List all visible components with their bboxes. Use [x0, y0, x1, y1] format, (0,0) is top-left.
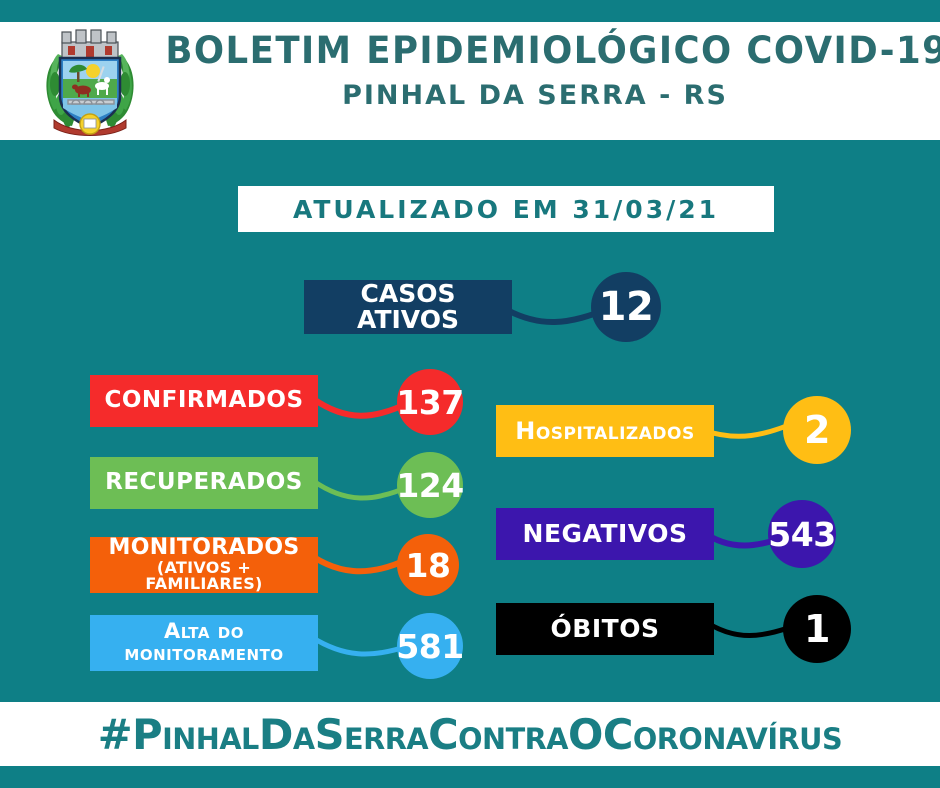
stat-circle-casos-ativos: 12	[591, 272, 661, 342]
stat-value-confirmados: 137	[396, 383, 463, 422]
stat-circle-negativos: 543	[768, 500, 836, 568]
covid-bulletin-poster: BOLETIM EPIDEMIOLÓGICO COVID-19 PINHAL D…	[0, 0, 940, 788]
stat-bar-casos-ativos: CASOS ATIVOS	[304, 280, 512, 334]
footer-divider-top	[0, 688, 940, 702]
stat-value-casos-ativos: 12	[599, 284, 654, 330]
stat-circle-obitos: 1	[783, 595, 851, 663]
stat-bar-monitorados: MONITORADOS (ATIVOS + FAMILIARES)	[90, 537, 318, 593]
stat-label-obitos: ÓBITOS	[551, 616, 660, 642]
stat-value-obitos: 1	[804, 607, 830, 651]
stat-label-alta-do-monitoramento: Alta do monitoramento	[124, 621, 283, 664]
header-band: BOLETIM EPIDEMIOLÓGICO COVID-19 PINHAL D…	[0, 22, 940, 140]
page-subtitle: PINHAL DA SERRA - RS	[150, 76, 920, 116]
header-title-block: BOLETIM EPIDEMIOLÓGICO COVID-19 PINHAL D…	[150, 26, 920, 116]
stat-bar-hospitalizados: Hospitalizados	[496, 405, 714, 457]
stat-bar-recuperados: RECUPERADOS	[90, 457, 318, 509]
stat-bar-obitos: ÓBITOS	[496, 603, 714, 655]
top-teal-strip	[0, 0, 940, 22]
footer-divider-bottom	[0, 766, 940, 788]
stat-bar-confirmados: CONFIRMADOS	[90, 375, 318, 427]
update-date-banner: ATUALIZADO EM 31/03/21	[238, 186, 774, 232]
stat-label-hospitalizados: Hospitalizados	[515, 419, 694, 444]
stat-label-confirmados: CONFIRMADOS	[104, 389, 303, 413]
coat-of-arms-icon	[38, 24, 142, 138]
stat-label-negativos: NEGATIVOS	[523, 521, 688, 547]
footer-band: #PinhalDaSerraContraOCoronavírus	[0, 702, 940, 766]
stat-circle-hospitalizados: 2	[783, 396, 851, 464]
campaign-hashtag: #PinhalDaSerraContraOCoronavírus	[98, 710, 842, 759]
stat-label-recuperados: RECUPERADOS	[105, 471, 303, 495]
stat-value-alta-do-monitoramento: 581	[396, 627, 463, 666]
stat-label-monitorados: MONITORADOS	[109, 537, 300, 560]
stat-value-hospitalizados: 2	[804, 408, 830, 452]
stat-circle-recuperados: 124	[397, 452, 463, 518]
stat-value-negativos: 543	[768, 515, 835, 554]
page-title: BOLETIM EPIDEMIOLÓGICO COVID-19	[165, 26, 904, 76]
stat-value-recuperados: 124	[396, 466, 463, 505]
header-divider	[0, 140, 940, 146]
stat-circle-confirmados: 137	[397, 369, 463, 435]
stat-circle-alta-do-monitoramento: 581	[397, 613, 463, 679]
stat-label-casos-ativos: CASOS ATIVOS	[316, 281, 500, 333]
stat-bar-alta-do-monitoramento: Alta do monitoramento	[90, 615, 318, 671]
update-date-text: ATUALIZADO EM 31/03/21	[293, 195, 719, 224]
stat-bar-negativos: NEGATIVOS	[496, 508, 714, 560]
stat-sublabel-monitorados: (ATIVOS + FAMILIARES)	[102, 560, 306, 593]
stat-circle-monitorados: 18	[397, 534, 459, 596]
stat-value-monitorados: 18	[406, 546, 451, 585]
